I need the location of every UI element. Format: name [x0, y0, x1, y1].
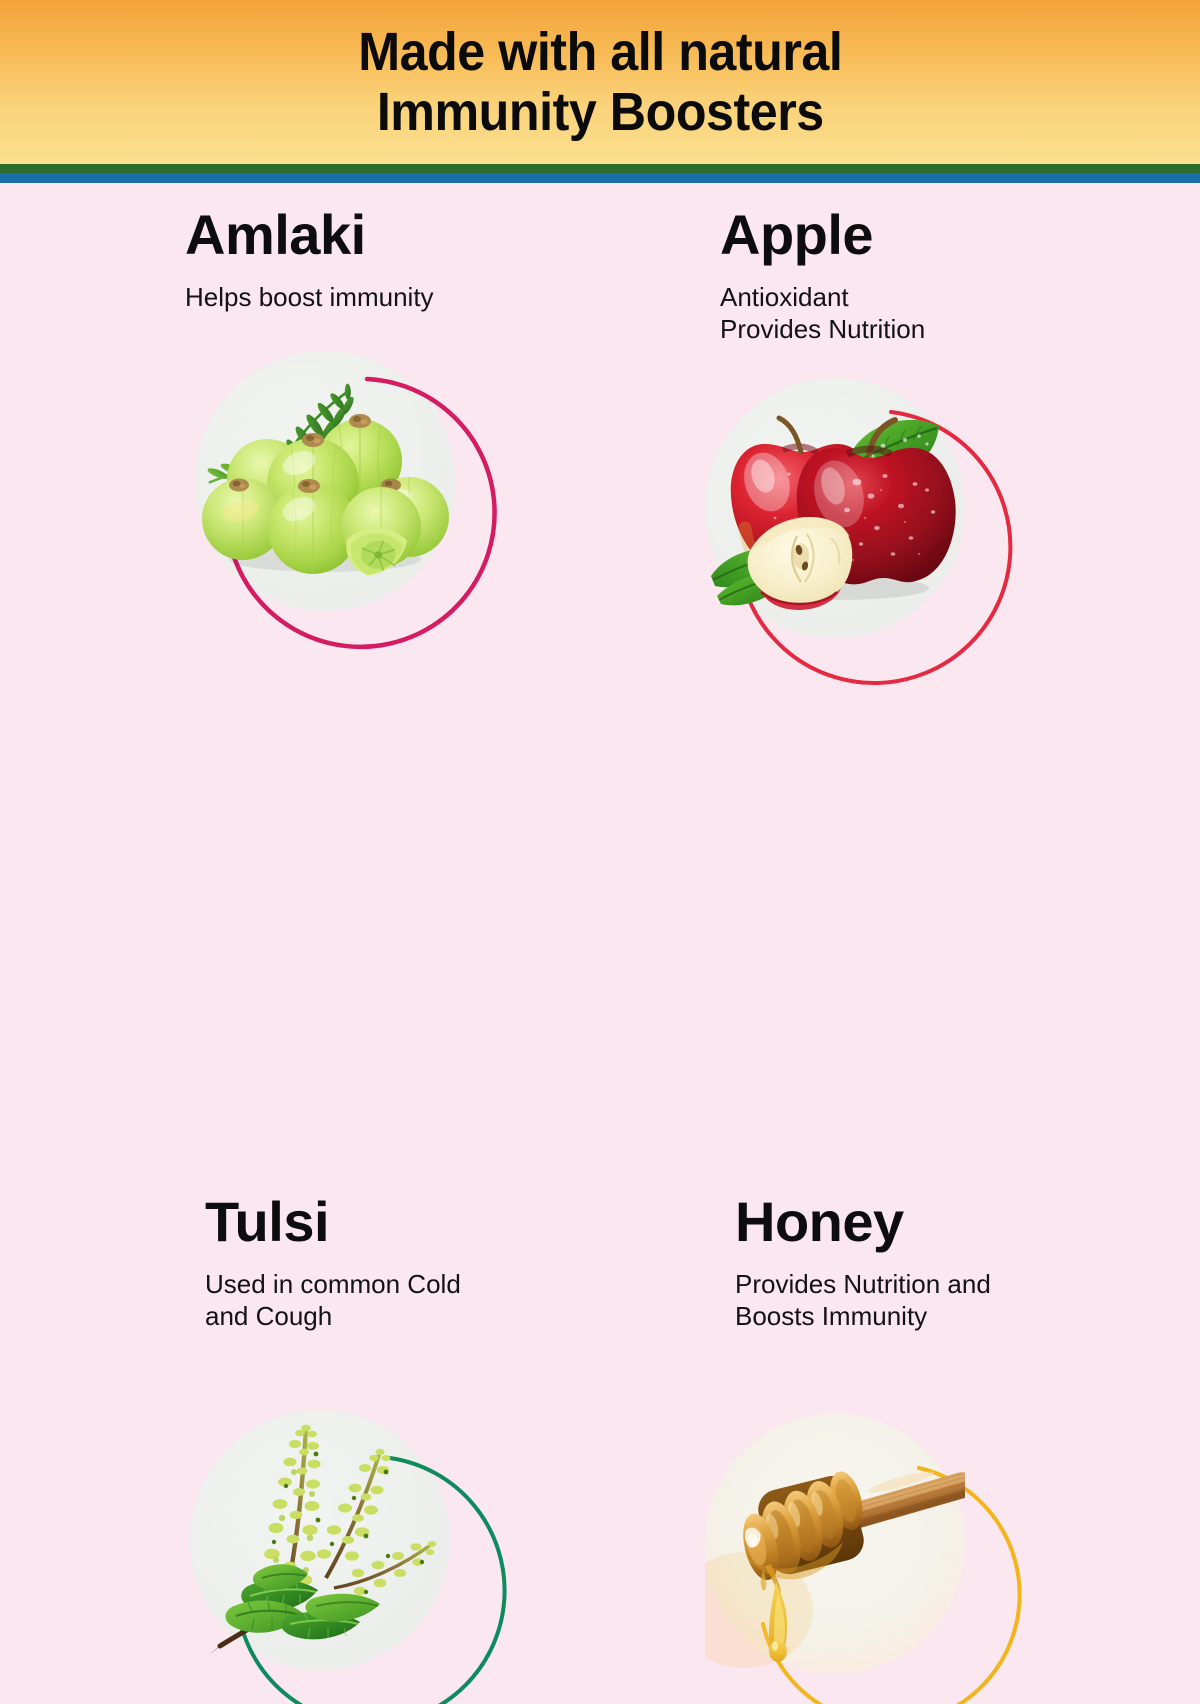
header-banner: Made with all natural Immunity Boosters [0, 0, 1200, 164]
ingredient-card-apple: Apple Antioxidant Provides Nutrition [600, 183, 1200, 692]
amlaki-image-frame [195, 351, 485, 641]
divider-stripe-green [0, 164, 1200, 173]
tulsi-description-line-2: and Cough [205, 1300, 605, 1332]
tulsi-image-frame [190, 1410, 480, 1700]
ingredient-grid: Amlaki Helps boost immunity [0, 183, 1200, 1200]
honey-photo [705, 1414, 965, 1674]
apple-title: Apple [720, 205, 1200, 265]
apple-description-line-2: Provides Nutrition [720, 313, 1120, 345]
apple-photo [705, 378, 965, 638]
ingredient-card-amlaki: Amlaki Helps boost immunity [0, 183, 600, 692]
apple-description-line-1: Antioxidant [720, 281, 1120, 313]
tulsi-description-line-1: Used in common Cold [205, 1268, 605, 1300]
honey-description-line-1: Provides Nutrition and [735, 1268, 1135, 1300]
tulsi-photo [190, 1410, 450, 1670]
ingredient-card-tulsi: Tulsi Used in common Cold and Cough [0, 692, 600, 1201]
honey-description-line-2: Boosts Immunity [735, 1300, 1135, 1332]
apple-text-block: Apple Antioxidant Provides Nutrition [720, 205, 1200, 345]
banner-title-line-1: Made with all natural [358, 22, 842, 82]
honey-image-frame [705, 1414, 995, 1704]
tulsi-title: Tulsi [205, 1192, 805, 1252]
banner-title-line-2: Immunity Boosters [377, 82, 824, 142]
ingredient-card-honey: Honey Provides Nutrition and Boosts Immu… [600, 692, 1200, 1201]
honey-title: Honey [735, 1192, 1200, 1252]
honey-text-block: Honey Provides Nutrition and Boosts Immu… [735, 1192, 1200, 1332]
apple-image-frame [705, 378, 995, 668]
tulsi-text-block: Tulsi Used in common Cold and Cough [205, 1192, 805, 1332]
divider-stripe-blue [0, 173, 1200, 183]
amlaki-photo [195, 351, 455, 611]
amlaki-description-line-1: Helps boost immunity [185, 281, 585, 313]
